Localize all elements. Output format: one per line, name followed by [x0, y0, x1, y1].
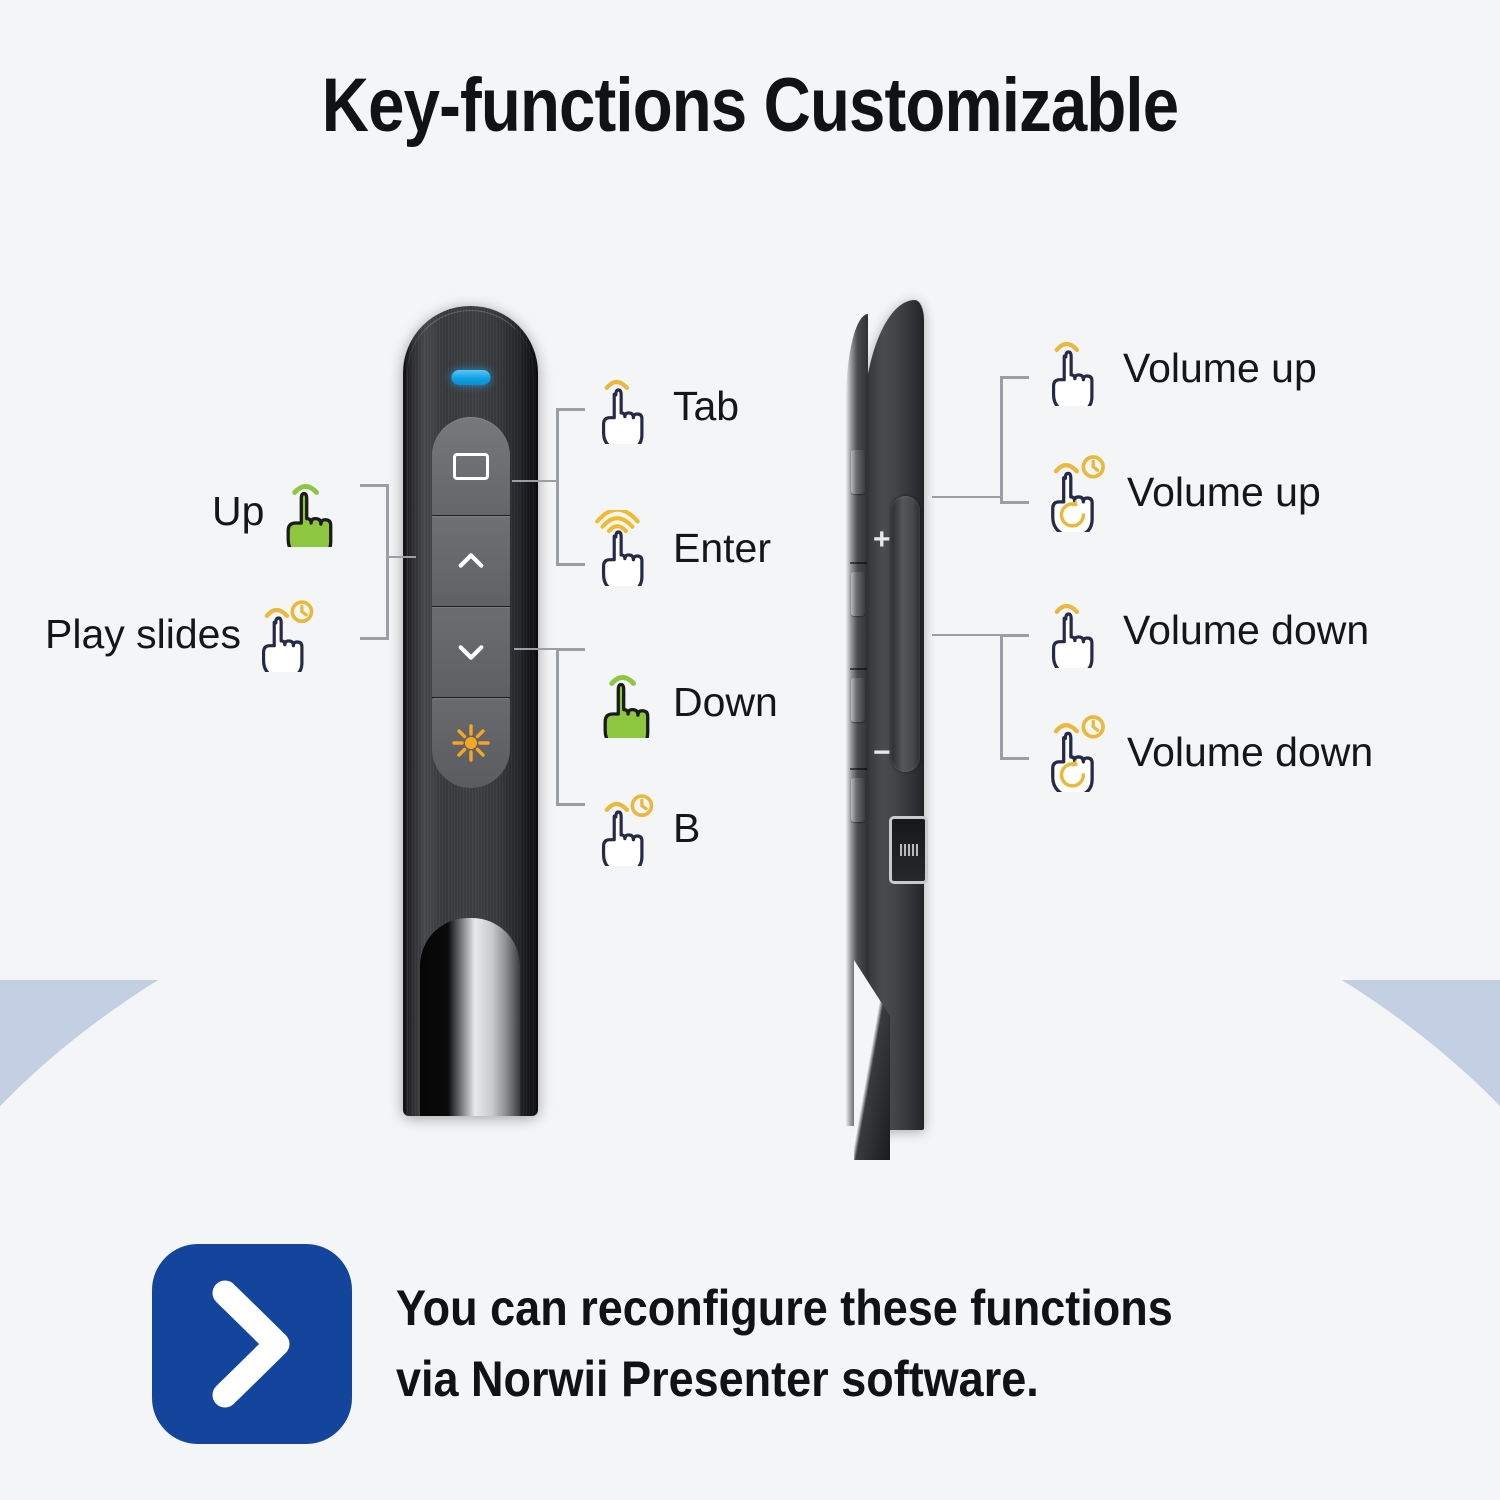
bracket-left-group — [360, 484, 389, 640]
callout-down-label: Down — [673, 679, 778, 726]
infographic-canvas: Key-functions Customizable — [0, 0, 1500, 1500]
stem-tab-enter — [512, 480, 558, 482]
chevron-badge[interactable] — [152, 1244, 352, 1444]
hand-single-tap-icon — [1044, 592, 1110, 668]
footer-note: You can reconfigure these functions via … — [152, 1244, 1352, 1444]
hand-single-tap-icon — [594, 368, 660, 444]
page-down-button[interactable] — [432, 607, 510, 698]
callout-volume-down-tap: Volume down — [1044, 592, 1369, 668]
callout-enter-label: Enter — [673, 525, 771, 572]
bracket-down-b — [556, 648, 585, 806]
callout-tab: Tab — [594, 368, 739, 444]
side-seam-3 — [850, 768, 867, 770]
hand-long-press-icon — [594, 790, 660, 866]
side-seam-2 — [850, 668, 867, 670]
side-key-edge-1 — [851, 450, 865, 494]
volume-up-symbol: + — [873, 525, 891, 555]
chevron-up-icon — [456, 546, 486, 576]
hand-single-tap-icon — [1044, 330, 1110, 406]
footer-text: You can reconfigure these functions via … — [396, 1273, 1173, 1415]
hand-long-press-icon — [254, 596, 320, 672]
callout-up-label: Up — [212, 488, 264, 535]
usb-receiver-slider — [420, 918, 520, 1116]
page-up-button[interactable] — [432, 516, 510, 607]
callout-down: Down — [594, 666, 778, 738]
callout-volume-up-hold: Volume up — [1044, 452, 1321, 532]
callout-b: B — [594, 790, 700, 866]
bracket-left-stem — [386, 556, 416, 558]
micro-usb-port — [889, 816, 928, 884]
page-title: Key-functions Customizable — [105, 62, 1395, 149]
footer-line-2: via Norwii Presenter software. — [396, 1344, 1173, 1415]
callout-volume-down-hold: Volume down — [1044, 712, 1373, 792]
callout-play-slides-label: Play slides — [45, 611, 241, 658]
callout-volume-up-tap-label: Volume up — [1123, 345, 1317, 392]
sunburst-icon — [451, 723, 491, 763]
bracket-volume-up — [1000, 376, 1029, 504]
hand-double-tap-icon — [594, 510, 660, 586]
callout-b-label: B — [673, 805, 700, 852]
callout-play-slides: Play slides — [45, 596, 320, 672]
side-key-edge-3 — [851, 678, 865, 722]
laser-button[interactable] — [432, 698, 510, 788]
hand-long-press-repeat-icon — [1044, 452, 1114, 532]
side-key-edge-2 — [851, 572, 865, 616]
presenter-side-view: + − — [846, 300, 924, 1130]
screen-blank-button[interactable] — [432, 417, 510, 516]
stem-volume-up — [932, 496, 1002, 498]
callout-volume-down-hold-label: Volume down — [1127, 729, 1373, 776]
callout-volume-up-hold-label: Volume up — [1127, 469, 1321, 516]
bracket-volume-down — [1000, 634, 1029, 760]
callout-tab-label: Tab — [673, 383, 739, 430]
callout-enter: Enter — [594, 510, 771, 586]
volume-rocker[interactable] — [891, 496, 920, 772]
callout-volume-up-tap: Volume up — [1044, 330, 1317, 406]
bracket-tab-enter — [556, 408, 585, 566]
hand-long-press-repeat-icon — [1044, 712, 1114, 792]
hand-tap-green-icon — [277, 475, 343, 547]
stem-down-b — [514, 648, 558, 650]
callout-volume-down-tap-label: Volume down — [1123, 607, 1369, 654]
hand-tap-green-icon — [594, 666, 660, 738]
callout-up: Up — [212, 475, 343, 547]
usb-pins — [900, 844, 918, 856]
footer-line-1: You can reconfigure these functions — [396, 1273, 1173, 1344]
side-seam-1 — [850, 562, 867, 564]
stem-volume-down — [932, 634, 1002, 636]
chevron-right-icon — [197, 1279, 307, 1409]
volume-down-symbol: − — [873, 738, 891, 768]
side-key-edge-4 — [851, 778, 865, 822]
screen-icon — [453, 453, 489, 480]
chevron-down-icon — [456, 637, 486, 667]
presenter-front-view — [403, 306, 538, 1116]
front-keypad — [432, 417, 510, 788]
led-indicator — [451, 370, 490, 385]
